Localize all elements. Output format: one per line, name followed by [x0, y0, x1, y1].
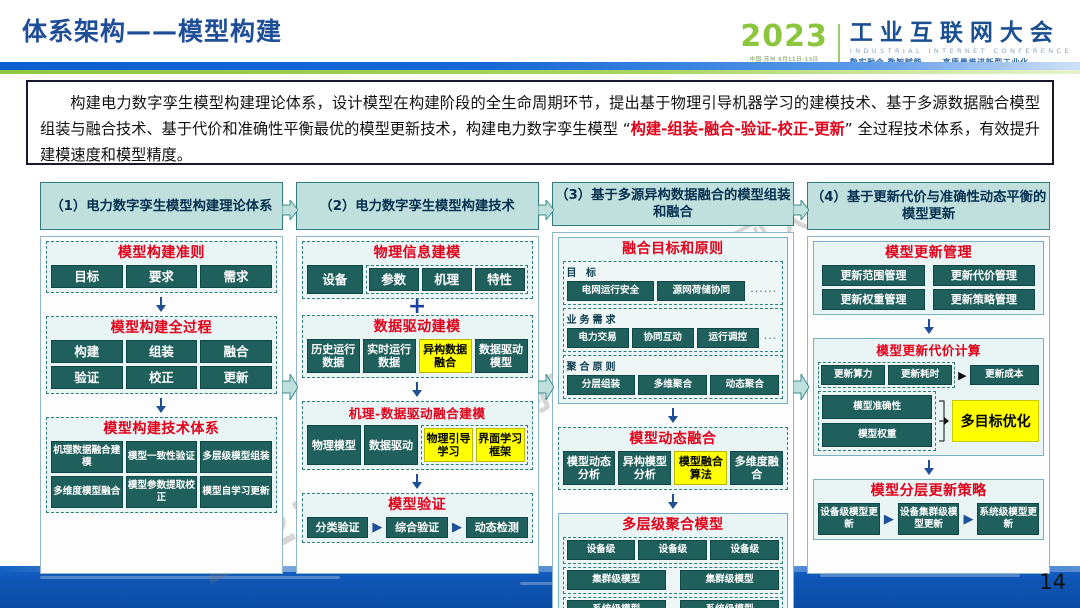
arrow-down-icon: [668, 502, 678, 509]
arrow-down-icon: [924, 327, 934, 334]
panel-data-driven-modeling: 数据驱动建模 历史运行数据 实时运行数据 异构数据融合 数据驱动模型: [302, 315, 533, 378]
chevron-right-icon: [793, 200, 809, 220]
column-4-body: 模型更新管理 更新范围管理 更新代价管理 更新权重管理 更新策略管理 模型更新代…: [807, 236, 1050, 574]
cell-classification-verification: 分类验证: [307, 517, 369, 538]
panel-row: 分类验证 ▶ 综合验证 ▶ 动态检测: [307, 517, 528, 538]
subgroup-goal: 目 标 电网运行安全 源网荷储协同 ······: [563, 261, 784, 305]
cell-update-cost-management: 更新代价管理: [933, 265, 1035, 286]
cell-heterogeneous-model-analysis: 异构模型分析: [618, 451, 671, 485]
panel-title: 数据驱动建模: [307, 319, 528, 336]
plus-icon: +: [408, 300, 426, 314]
cell-multiobjective-optimization: 多目标优化: [952, 400, 1039, 442]
cell-device-level-2: 设备级: [638, 540, 707, 560]
chevron-right-icon: [282, 200, 298, 220]
arrow-down-icon: [412, 482, 422, 489]
subgroup-row: 集群级模型 集群级模型: [567, 570, 780, 590]
cell-update-time-cost: 更新耗时: [888, 365, 952, 385]
panel-row: 历史运行数据 实时运行数据 异构数据融合 数据驱动模型: [307, 339, 528, 373]
panel-title: 模型验证: [307, 497, 528, 514]
subgroup-parameters: 参数 机理 特性: [366, 265, 528, 294]
cell-update-compute-power: 更新算力: [821, 365, 885, 385]
panel-mechanism-data-fusion-modeling: 机理-数据驱动融合建模 物理模型 数据驱动 物理引导学习 界面学习框架: [302, 401, 533, 470]
cell-physics-guided-learning: 物理引导学习: [424, 428, 473, 462]
cell-system-level-model-2: 系统级模型: [680, 600, 779, 608]
logo-year-text: 2023: [740, 22, 828, 52]
logo-english-name: INDUSTRIAL INTERNET CONFERENCE: [850, 47, 1072, 55]
cell-data-driven-model: 数据驱动模型: [475, 339, 528, 373]
cell-parameter: 参数: [369, 268, 419, 291]
connector-arrow-7: [813, 318, 1044, 335]
cell-comprehensive-verification: 综合验证: [386, 517, 448, 538]
cell-model-dynamic-analysis: 模型动态分析: [563, 451, 616, 485]
subgroup-business-demand: 业务需求 电力交易 协同互动 运行调控 ···: [563, 308, 784, 352]
cell-device-level-3: 设备级: [710, 540, 779, 560]
arrow-right-icon: ▶: [451, 520, 463, 535]
arrow-down-icon: [156, 305, 166, 312]
cell-system-level-model-update: 系统级模型更新: [977, 503, 1039, 535]
panel-row: 验证 校正 更新: [51, 366, 272, 389]
panel-model-verification: 模型验证 分类验证 ▶ 综合验证 ▶ 动态检测: [302, 493, 533, 543]
cell-dynamic-aggregation: 动态聚合: [710, 375, 779, 395]
panel-model-build-tech-system: 模型构建技术体系 机理数据融合建模 模型一致性验证 多层级模型组装 多维度模型融…: [46, 417, 277, 513]
cell-multidim-model-fusion: 多维度模型融合: [51, 476, 123, 508]
cell-update-cost: 更新成本: [970, 365, 1039, 385]
cell-equipment: 设备: [307, 265, 363, 294]
footer-streak: [40, 576, 340, 579]
cell-power-trading: 电力交易: [567, 328, 629, 348]
subgroup-row: 设备级 设备级 设备级: [567, 540, 780, 560]
merge-bracket-icon: [939, 391, 949, 451]
panel-model-dynamic-fusion: 模型动态融合 模型动态分析 异构模型分析 模型融合算法 多维度融合: [558, 427, 789, 490]
chevron-right-icon: [793, 374, 809, 400]
cell-assemble: 组装: [126, 340, 198, 363]
cost-left-inputs: 模型准确性 模型权重: [818, 391, 936, 451]
panel-title: 模型动态融合: [563, 431, 784, 448]
cell-update-scope-management: 更新范围管理: [822, 265, 924, 286]
diagram-column-2: （2）电力数字孪生模型构建技术 物理信息建模 设备 参数 机理 特性 + 数据驱…: [296, 182, 539, 574]
subgroup-highlighted: 物理引导学习 界面学习框架: [421, 425, 527, 465]
chevron-right-icon: [538, 200, 554, 220]
bracket-svg: [939, 391, 949, 451]
panel-title: 模型更新管理: [818, 245, 1039, 262]
subgroup-cost-inputs: 更新算力 更新耗时: [818, 362, 955, 388]
panel-row: 目标 要求 需求: [51, 265, 272, 288]
ellipsis-demand: ···: [762, 332, 780, 345]
cell-device-level-model-update: 设备级模型更新: [818, 503, 880, 535]
ellipsis-goal: ······: [748, 285, 779, 298]
cell-cluster-level-model-1: 集群级模型: [567, 570, 666, 590]
cell-multidim-aggregation: 多维聚合: [638, 375, 707, 395]
cell-heterogeneous-data-fusion: 异构数据融合: [419, 339, 472, 373]
connector-arrow-3: [302, 381, 533, 398]
connector-arrow-2: [46, 397, 277, 414]
column-1-header: （1）电力数字孪生模型构建理论体系: [40, 182, 283, 230]
cell-model-consistency-verification: 模型一致性验证: [126, 441, 198, 473]
cell-physical-model: 物理模型: [307, 425, 361, 465]
panel-fusion-goals-principles: 融合目标和原则 目 标 电网运行安全 源网荷储协同 ······ 业务需求 电力…: [558, 237, 789, 404]
panel-row: 物理模型 数据驱动 物理引导学习 界面学习框架: [307, 425, 528, 465]
page-number: 14: [1039, 570, 1066, 594]
arrow-right-icon: ▶: [958, 369, 966, 382]
panel-row: 机理数据融合建模 模型一致性验证 多层级模型组装: [51, 441, 272, 473]
cell-update: 更新: [200, 366, 272, 389]
cell-model-accuracy: 模型准确性: [822, 395, 932, 419]
subgroup-row: 系统级模型 系统级模型: [567, 600, 780, 608]
arrow-right-icon: ▶: [962, 512, 974, 527]
arrow-down-icon: [156, 406, 166, 413]
arrow-down-icon: [412, 390, 422, 397]
cell-update-strategy-management: 更新策略管理: [933, 289, 1035, 310]
column-1-body: 模型构建准则 目标 要求 需求 模型构建全过程 构建 组装 融合: [40, 236, 283, 574]
cell-model-param-extraction: 模型参数提取校正: [126, 476, 198, 508]
cost-optimize-area: 多目标优化: [952, 391, 1039, 451]
arrow-down-icon: [668, 416, 678, 423]
cell-historical-operation-data: 历史运行数据: [307, 339, 360, 373]
panel-row: 设备 参数 机理 特性: [307, 265, 528, 294]
connector-arrow-5: [558, 407, 789, 424]
cell-dynamic-detection: 动态检测: [466, 517, 528, 538]
header-blue-rule: [0, 62, 1080, 70]
connector-arrow-6: [558, 493, 789, 510]
arrow-right-icon: ▶: [371, 520, 383, 535]
panel-model-build-process: 模型构建全过程 构建 组装 融合 验证 校正 更新: [46, 316, 277, 394]
subgroup-row: 电网运行安全 源网荷储协同 ······: [567, 281, 780, 301]
diagram-column-1: （1）电力数字孪生模型构建理论体系 模型构建准则 目标 要求 需求 模型构建全过…: [40, 182, 283, 574]
panel-title: 模型构建准则: [51, 245, 272, 262]
panel-title: 机理-数据驱动融合建模: [307, 405, 528, 422]
panel-row: 多维度模型融合 模型参数提取校正 模型自学习更新: [51, 476, 272, 508]
diagram-column-4: （4）基于更新代价与准确性动态平衡的模型更新 模型更新管理 更新范围管理 更新代…: [807, 182, 1050, 574]
panel-model-update-management: 模型更新管理 更新范围管理 更新代价管理 更新权重管理 更新策略管理: [813, 241, 1044, 315]
cell-source-grid-load-storage: 源网荷储协同: [657, 281, 745, 301]
cell-multidim-fusion: 多维度融合: [730, 451, 783, 485]
cell-fuse: 融合: [200, 340, 272, 363]
cell-device-level-1: 设备级: [567, 540, 636, 560]
connector-arrow-8: [813, 459, 1044, 476]
column-3-header: （3）基于多源异构数据融合的模型组装和融合: [552, 182, 795, 226]
logo-year-block: 2023 中国·苏州 9月11日-13日: [740, 22, 828, 63]
column-3-body: 融合目标和原则 目 标 电网运行安全 源网荷储协同 ······ 业务需求 电力…: [552, 232, 795, 608]
cell-model-fusion-algorithm: 模型融合算法: [674, 451, 727, 485]
cell-grid-operation-safety: 电网运行安全: [567, 281, 655, 301]
cell-construct: 构建: [51, 340, 123, 363]
cell-goal: 目标: [51, 265, 123, 288]
panel-multilevel-aggregation-model: 多层级聚合模型 设备级 设备级 设备级 集群级模型 集群级模型: [558, 513, 789, 608]
architecture-diagram: （1）电力数字孪生模型构建理论体系 模型构建准则 目标 要求 需求 模型构建全过…: [40, 182, 1050, 574]
cell-characteristic: 特性: [475, 268, 525, 291]
chevron-right-icon: [538, 374, 554, 400]
diagram-column-3: （3）基于多源异构数据融合的模型组装和融合 融合目标和原则 目 标 电网运行安全…: [552, 182, 795, 574]
connector-arrow-1: [46, 296, 277, 313]
cost-bottom-grid: 模型准确性 模型权重 多目标优化: [818, 391, 1039, 451]
arrow-down-icon: [924, 468, 934, 475]
cell-multilevel-model-assembly: 多层级模型组装: [200, 441, 272, 473]
subgroup-device-level: 设备级 设备级 设备级: [563, 537, 784, 564]
subgroup-label: 业务需求: [567, 311, 780, 326]
column-gap-2: [539, 182, 552, 574]
cell-system-level-model-1: 系统级模型: [567, 600, 666, 608]
panel-model-build-criteria: 模型构建准则 目标 要求 需求: [46, 241, 277, 293]
panel-title: 模型更新代价计算: [818, 342, 1039, 359]
cell-mechanism: 机理: [422, 268, 472, 291]
cell-data-driven: 数据驱动: [364, 425, 418, 465]
column-2-header: （2）电力数字孪生模型构建技术: [296, 182, 539, 230]
subgroup-aggregation-principle: 聚合原则 分层组装 多维聚合 动态聚合: [563, 355, 784, 399]
panel-row: 更新权重管理 更新策略管理: [818, 289, 1039, 310]
subgroup-system-level: 系统级模型 系统级模型: [563, 597, 784, 608]
column-gap-3: [794, 182, 807, 574]
cell-cluster-level-model-2: 集群级模型: [680, 570, 779, 590]
subgroup-row: 电力交易 协同互动 运行调控 ···: [567, 328, 780, 348]
cell-interface-learning-framework: 界面学习框架: [476, 428, 525, 462]
cell-requirement: 要求: [126, 265, 198, 288]
cell-verify: 验证: [51, 366, 123, 389]
subgroup-row: 分层组装 多维聚合 动态聚合: [567, 375, 780, 395]
panel-title: 融合目标和原则: [563, 241, 784, 258]
panel-row: 模型动态分析 异构模型分析 模型融合算法 多维度融合: [563, 451, 784, 485]
panel-title: 模型分层更新策略: [818, 483, 1039, 500]
cell-hierarchical-assembly: 分层组装: [567, 375, 636, 395]
cell-mechanism-data-fusion-modeling: 机理数据融合建模: [51, 441, 123, 473]
panel-title: 多层级聚合模型: [563, 517, 784, 534]
cell-device-cluster-model-update: 设备集群级模型更新: [898, 503, 960, 535]
subgroup-label: 目 标: [567, 264, 780, 279]
panel-row: 更新范围管理 更新代价管理: [818, 265, 1039, 286]
panel-title: 模型构建全过程: [51, 320, 272, 337]
panel-physical-info-modeling: 物理信息建模 设备 参数 机理 特性: [302, 241, 533, 299]
panel-title: 物理信息建模: [307, 245, 528, 262]
chevron-right-icon: [282, 374, 298, 400]
header-green-rule: [0, 70, 1080, 74]
cell-demand: 需求: [200, 265, 272, 288]
panel-model-update-cost-calculation: 模型更新代价计算 更新算力 更新耗时 ▶ 更新成本 模型准确性 模型权重: [813, 338, 1044, 456]
panel-title: 模型构建技术体系: [51, 421, 272, 438]
subgroup-cluster-level: 集群级模型 集群级模型: [563, 567, 784, 594]
column-2-body: 物理信息建模 设备 参数 机理 特性 + 数据驱动建模 历史运行数据 实时运行数…: [296, 236, 539, 574]
summary-textbox: 构建电力数字孪生模型构建理论体系，设计模型在构建阶段的全生命周期环节，提出基于物…: [26, 80, 1054, 165]
panel-row: 构建 组装 融合: [51, 340, 272, 363]
page-title: 体系架构——模型构建: [22, 12, 282, 48]
cell-operation-control: 运行调控: [697, 328, 759, 348]
column-gap-1: [283, 182, 296, 574]
cell-model-weight: 模型权重: [822, 423, 932, 447]
cost-top-row: 更新算力 更新耗时 ▶ 更新成本: [818, 362, 1039, 388]
cell-model-self-learning-update: 模型自学习更新: [200, 476, 272, 508]
panel-row: 设备级模型更新 ▶ 设备集群级模型更新 ▶ 系统级模型更新: [818, 503, 1039, 535]
footer-streak: [820, 574, 1020, 577]
summary-highlight: 构建-组装-融合-验证-校正-更新: [631, 120, 845, 138]
logo-chinese-name: 工业互联网大会: [850, 22, 1072, 45]
panel-model-layered-update-strategy: 模型分层更新策略 设备级模型更新 ▶ 设备集群级模型更新 ▶ 系统级模型更新: [813, 479, 1044, 540]
cell-realtime-operation-data: 实时运行数据: [363, 339, 416, 373]
arrow-right-icon: ▶: [883, 512, 895, 527]
connector-arrow-4: [302, 473, 533, 490]
cell-update-weight-management: 更新权重管理: [822, 289, 924, 310]
cell-calibrate: 校正: [126, 366, 198, 389]
column-4-header: （4）基于更新代价与准确性动态平衡的模型更新: [807, 182, 1050, 230]
cell-collaborative-interaction: 协同互动: [632, 328, 694, 348]
subgroup-label: 聚合原则: [567, 358, 780, 373]
